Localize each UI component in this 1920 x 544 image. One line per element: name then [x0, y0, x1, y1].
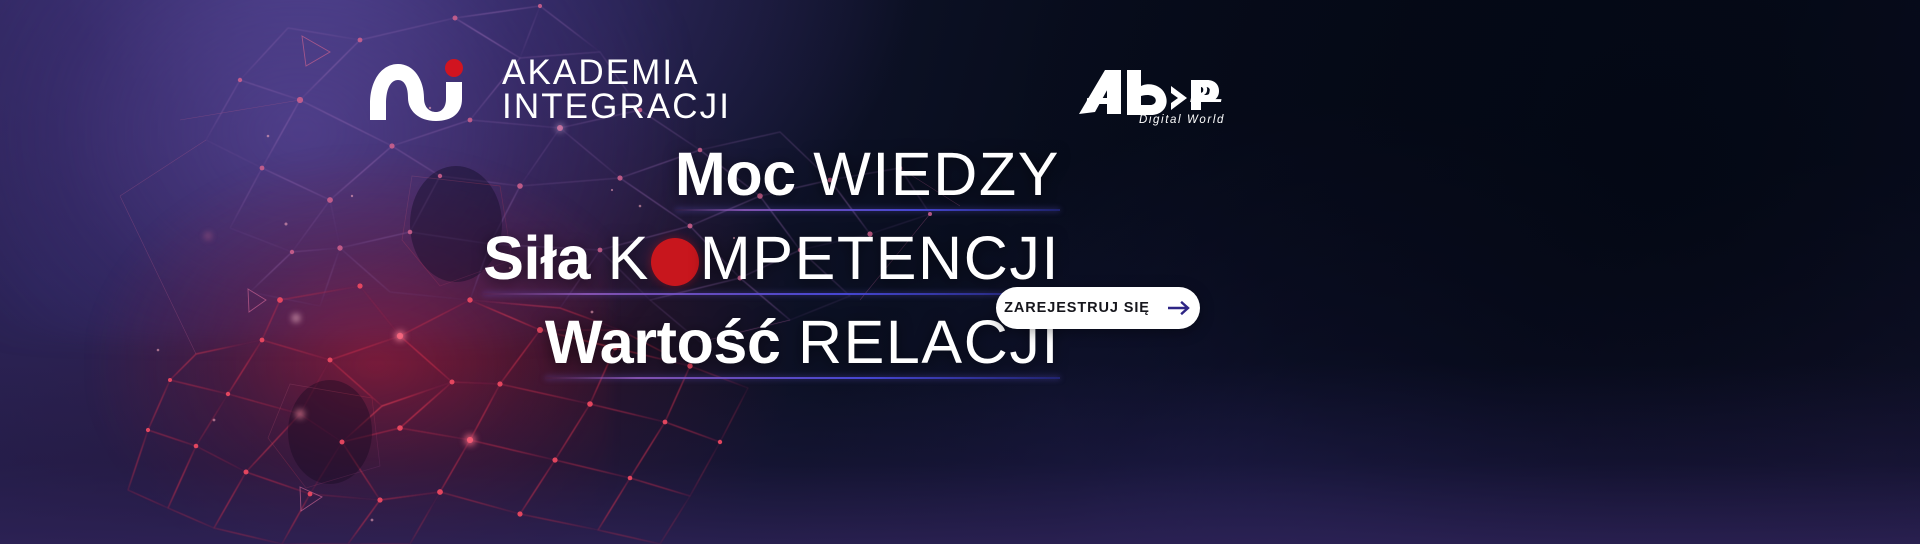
svg-text:PL: PL [1190, 78, 1223, 108]
headline-2-light-after: MPETENCJI [700, 224, 1060, 292]
headline-block: Moc WIEDZY Siła KMPETENCJI Wartość RELAC… [0, 140, 1060, 376]
headline-row-3: Wartość RELACJI [545, 308, 1060, 376]
logo-line-integracji: INTEGRACJI [502, 90, 731, 124]
headline-underline-2 [483, 293, 1060, 295]
headline-line-3: Wartość RELACJI [545, 308, 1060, 376]
register-button[interactable]: ZAREJESTRUJ SIĘ [996, 287, 1200, 329]
register-button-label: ZAREJESTRUJ SIĘ [1004, 300, 1150, 316]
headline-2-light-before: K [608, 224, 650, 292]
arrow-right-icon [1168, 300, 1192, 316]
headline-line-2: Siła KMPETENCJI [483, 224, 1060, 292]
headline-row-2: Siła KMPETENCJI [483, 224, 1060, 292]
red-circle-letter-o [651, 238, 699, 286]
abpl-tagline: Digital World [1139, 114, 1225, 126]
headline-1-light: WIEDZY [813, 140, 1060, 208]
headline-3-bold: Wartość [545, 308, 781, 376]
headline-2-bold: Siła [483, 224, 590, 292]
headline-underline-1 [675, 209, 1060, 211]
logo-line-akademia: AKADEMIA [502, 56, 731, 90]
abpl-logo[interactable]: PL Digital World [1075, 64, 1225, 126]
akademia-integracji-logo[interactable]: AKADEMIA INTEGRACJI [368, 56, 731, 124]
headline-row-1: Moc WIEDZY [675, 140, 1060, 208]
headline-underline-3 [545, 377, 1060, 379]
ai-wave-mark-icon [368, 58, 478, 122]
akademia-integracji-wordmark: AKADEMIA INTEGRACJI [502, 56, 731, 124]
promo-banner: AKADEMIA INTEGRACJI PL Digital World Moc [0, 0, 1920, 544]
headline-line-1: Moc WIEDZY [675, 140, 1060, 208]
headline-1-bold: Moc [675, 140, 796, 208]
